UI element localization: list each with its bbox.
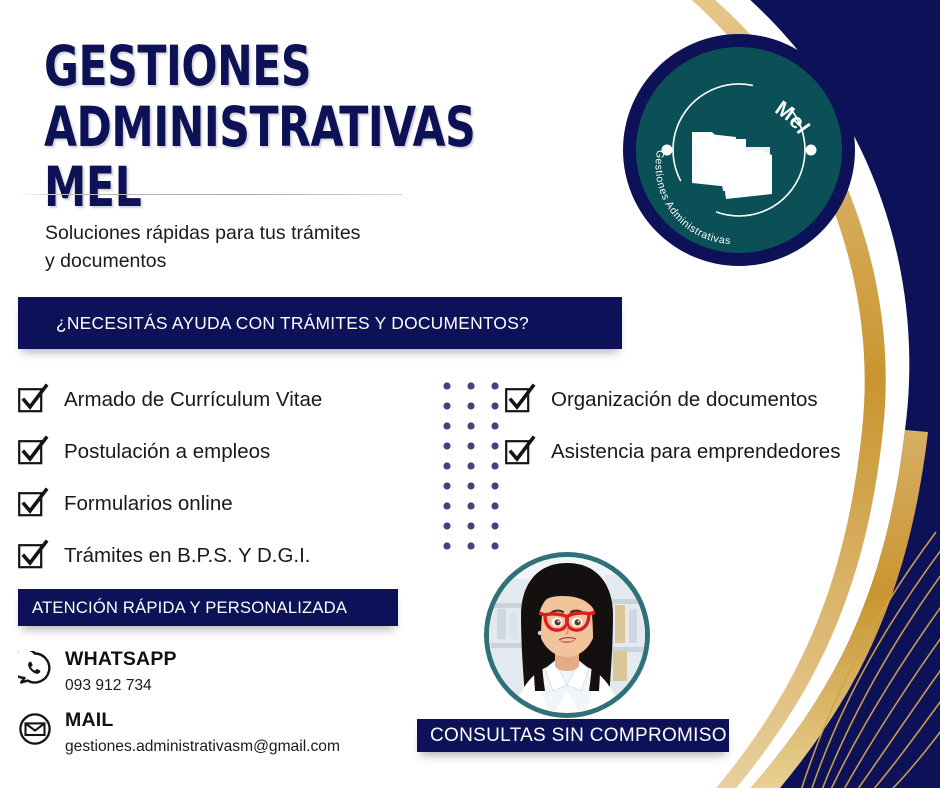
- consultas-banner-text: CONSULTAS SIN COMPROMISO: [430, 725, 727, 747]
- whatsapp-label: WHATSAPP: [65, 648, 177, 670]
- consultas-banner: CONSULTAS SIN COMPROMISO: [417, 719, 729, 752]
- contact-block: WHATSAPP 093 912 734 MAIL gestiones.admi…: [18, 650, 340, 772]
- attention-banner: ATENCIÓN RÁPIDA Y PERSONALIZADA: [18, 589, 398, 626]
- service-item[interactable]: Organización de documentos: [505, 374, 925, 426]
- subtitle-line-1: Soluciones rápidas para tus trámites: [45, 220, 475, 248]
- consultant-portrait: [483, 551, 651, 719]
- service-label: Asistencia para emprendedores: [551, 441, 840, 464]
- brand-logo: Mel Gestiones Administrativas: [620, 31, 858, 269]
- flyer-canvas: Mel Gestiones Administrativas GESTIONES …: [0, 0, 940, 788]
- contact-mail[interactable]: MAIL gestiones.administrativasm@gmail.co…: [18, 711, 340, 755]
- logo-dot-right: [806, 145, 817, 156]
- mail-value: gestiones.administrativasm@gmail.com: [65, 738, 340, 755]
- service-label: Armado de Currículum Vitae: [64, 389, 322, 412]
- services-list-right: Organización de documentos Asistencia pa…: [505, 374, 925, 478]
- contact-whatsapp[interactable]: WHATSAPP 093 912 734: [18, 650, 340, 694]
- mail-icon: [18, 712, 52, 746]
- service-item[interactable]: Postulación a empleos: [18, 426, 428, 478]
- service-item[interactable]: Formularios online: [18, 478, 428, 530]
- whatsapp-icon: [18, 651, 52, 685]
- dot-grid-decoration: [442, 381, 502, 551]
- service-label: Postulación a empleos: [64, 441, 270, 464]
- checkbox-checked-icon: [18, 439, 46, 465]
- checkbox-checked-icon: [18, 387, 46, 413]
- question-banner: ¿NECESITÁS AYUDA CON TRÁMITES Y DOCUMENT…: [18, 297, 622, 349]
- services-list-left: Armado de Currículum Vitae Postulación a…: [18, 374, 428, 582]
- page-title: GESTIONES ADMINISTRATIVAS MEL: [44, 36, 526, 218]
- service-label: Trámites en B.P.S. Y D.G.I.: [64, 545, 310, 568]
- attention-banner-text: ATENCIÓN RÁPIDA Y PERSONALIZADA: [32, 598, 347, 618]
- checkbox-checked-icon: [18, 543, 46, 569]
- subtitle: Soluciones rápidas para tus trámites y d…: [45, 220, 475, 275]
- question-banner-text: ¿NECESITÁS AYUDA CON TRÁMITES Y DOCUMENT…: [56, 313, 529, 334]
- service-item[interactable]: Armado de Currículum Vitae: [18, 374, 428, 426]
- checkbox-checked-icon: [505, 387, 533, 413]
- service-item[interactable]: Trámites en B.P.S. Y D.G.I.: [18, 530, 428, 582]
- checkbox-checked-icon: [18, 491, 46, 517]
- whatsapp-value: 093 912 734: [65, 677, 177, 694]
- mail-label: MAIL: [65, 709, 113, 731]
- header-divider: [18, 194, 402, 195]
- service-label: Organización de documentos: [551, 389, 818, 412]
- service-label: Formularios online: [64, 493, 233, 516]
- service-item[interactable]: Asistencia para emprendedores: [505, 426, 925, 478]
- title-line-2: ADMINISTRATIVAS MEL: [44, 97, 526, 218]
- checkbox-checked-icon: [505, 439, 533, 465]
- subtitle-line-2: y documentos: [45, 248, 475, 276]
- title-line-1: GESTIONES: [44, 36, 526, 97]
